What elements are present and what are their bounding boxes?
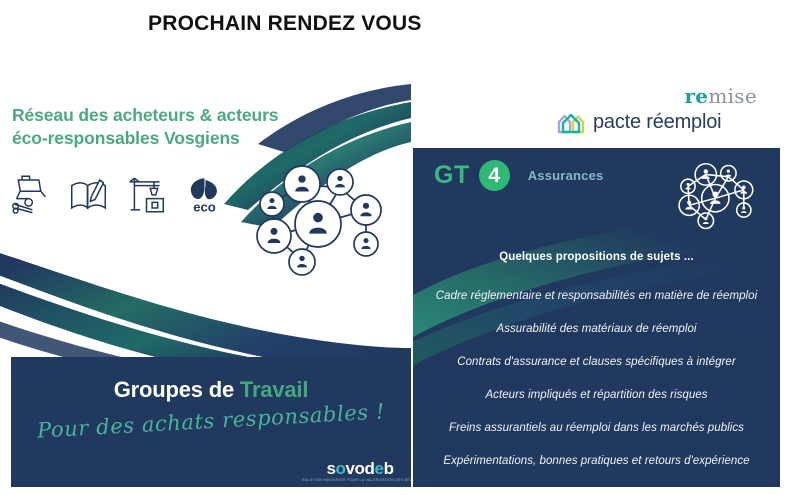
wheelbarrow-materials-icon bbox=[10, 171, 51, 217]
list-item: Cadre réglementaire et responsabilités e… bbox=[413, 280, 780, 313]
left-flyer-icon-row: eco bbox=[10, 168, 225, 220]
gt4-header: GT 4 Assurances bbox=[434, 160, 603, 191]
gt-label: GT bbox=[434, 161, 470, 190]
groupes-de-travail-title: Groupes de Travail bbox=[11, 377, 411, 403]
gt-topic-label: Assurances bbox=[528, 168, 604, 183]
left-flyer-heading-line-1: Réseau des acheteurs & acteurs bbox=[12, 104, 332, 127]
eco-leaf-label: eco bbox=[193, 200, 215, 215]
list-item: Contrats d'assurance et clauses spécifiq… bbox=[413, 346, 780, 379]
list-item: Freins assurantiels au réemploi dans les… bbox=[413, 412, 780, 445]
sovodeb-logo: sovodeb SOLUTION INNOVANTE POUR LA VALOR… bbox=[317, 460, 403, 482]
house-outline-icon bbox=[556, 109, 586, 135]
people-network-icon bbox=[669, 154, 764, 240]
groupes-de-travail-title-accent: Travail bbox=[240, 377, 308, 402]
groupes-de-travail-tagline: Pour des achats responsables ! bbox=[11, 398, 411, 444]
remise-wordmark: remise bbox=[684, 84, 757, 108]
list-item: Expérimentations, bonnes pratiques et re… bbox=[413, 445, 780, 478]
sovodeb-logo-part-3: vod bbox=[345, 459, 374, 478]
open-book-pencil-icon bbox=[68, 171, 109, 217]
sovodeb-logo-part-1: s bbox=[326, 459, 335, 478]
people-network-icon bbox=[240, 152, 400, 292]
left-flyer-heading: Réseau des acheteurs & acteurs éco-respo… bbox=[12, 104, 332, 151]
sovodeb-logo-part-2: o bbox=[336, 459, 346, 478]
list-item: Assurabilité des matériaux de réemploi bbox=[413, 313, 780, 346]
pacte-reemploi-lockup: pacte réemploi bbox=[556, 109, 721, 135]
page-title: PROCHAIN RENDEZ VOUS bbox=[148, 12, 422, 36]
construction-crane-icon bbox=[126, 171, 167, 217]
remise-wordmark-rest: mise bbox=[708, 84, 757, 108]
sovodeb-logo-wordmark: sovodeb bbox=[317, 460, 403, 477]
list-item: Acteurs impliqués et répartition des ris… bbox=[413, 379, 780, 412]
right-flyer-image: GT 4 Assurances bbox=[413, 148, 780, 487]
remise-pacte-reemploi-logo: remise pacte réemploi bbox=[540, 84, 785, 144]
subject-list: Cadre réglementaire et responsabilités e… bbox=[413, 280, 780, 478]
sovodeb-logo-tagline: SOLUTION INNOVANTE POUR LA VALORISATION … bbox=[302, 478, 411, 482]
subjects-intro-label: Quelques propositions de sujets ... bbox=[413, 251, 780, 263]
sovodeb-logo-part-4: e bbox=[375, 459, 384, 478]
left-flyer-image: Réseau des acheteurs & acteurs éco-respo… bbox=[0, 72, 411, 487]
left-flyer-heading-line-2: éco-responsables Vosgiens bbox=[12, 127, 332, 150]
sovodeb-logo-part-5: b bbox=[384, 459, 394, 478]
gt-number-badge: 4 bbox=[479, 160, 510, 191]
groupes-de-travail-title-plain: Groupes de bbox=[114, 377, 240, 402]
remise-wordmark-bold: re bbox=[684, 84, 708, 108]
left-flyer-bottom-band: Groupes de Travail Pour des achats respo… bbox=[11, 357, 411, 487]
pacte-reemploi-text: pacte réemploi bbox=[593, 111, 721, 134]
eco-leaf-icon: eco bbox=[184, 171, 225, 217]
